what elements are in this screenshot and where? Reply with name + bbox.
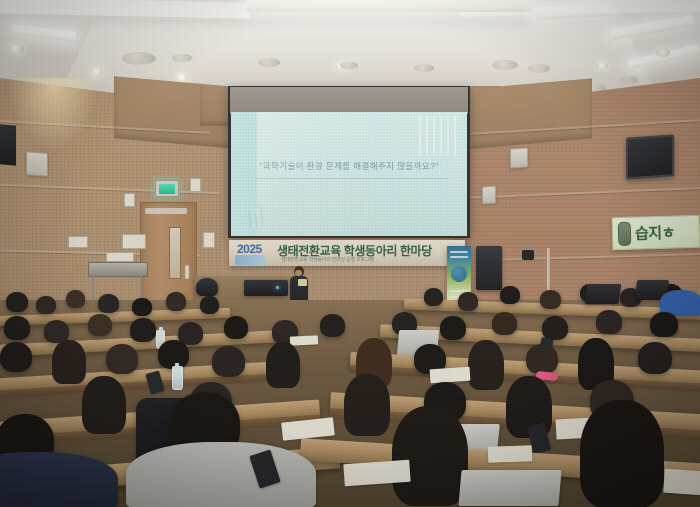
wall-speaker-icon [510, 147, 528, 168]
audience-head [526, 344, 558, 374]
paper [488, 445, 533, 463]
slide-underline [257, 178, 449, 179]
audience-head [158, 340, 189, 369]
ceiling-spotlight [90, 68, 103, 76]
ceiling-vent [258, 58, 280, 67]
av-equipment [196, 278, 218, 296]
audience-head [458, 292, 478, 311]
audience-head [638, 342, 672, 374]
wall-banner: 습지ㅎ [612, 215, 700, 250]
wall-speaker-icon [26, 151, 48, 177]
stage-banner: 2025 생태전환교육 학생동아리 한마당 생태전환교육 학생동아리 한마당 운… [229, 240, 465, 266]
camera-icon [522, 250, 534, 260]
audience-head [212, 346, 245, 377]
ceiling-vent [340, 62, 358, 69]
audience-head [106, 344, 138, 374]
projection-screen: "과학기술이 환경 문제를 해결해주지 않을까요?" [231, 112, 467, 236]
audience-head [468, 340, 504, 390]
audience-head [36, 296, 56, 314]
strip-light-center [246, 0, 536, 12]
exit-sign-glow [159, 184, 175, 194]
audience-head [66, 290, 85, 308]
wall-notice [122, 234, 146, 249]
presenter-face [295, 270, 302, 276]
right-soffit [462, 78, 592, 149]
paper [290, 335, 318, 345]
lecture-hall-photo: "과학기술이 환경 문제를 해결해주지 않을까요?" 습지ㅎ 2025 생태전환… [0, 0, 700, 507]
audience-head [344, 374, 390, 436]
door-handle[interactable] [185, 265, 189, 279]
water-bottle [172, 366, 183, 390]
slide-headline: "과학기술이 환경 문제를 해결해주지 않을까요?" [231, 160, 467, 172]
audience-head [540, 290, 561, 309]
door-closer [145, 208, 187, 214]
audience-head [6, 292, 28, 312]
wall-switch-panel[interactable] [106, 252, 134, 262]
laptop [458, 470, 561, 506]
presenter-notes [298, 279, 307, 286]
paper [663, 469, 700, 496]
banner-logo [235, 255, 265, 265]
audience-head [82, 376, 126, 434]
audience-head [132, 298, 152, 316]
audience-head [500, 286, 520, 304]
wall-banner-text: 습지ㅎ [635, 221, 675, 243]
wall-sensor [124, 193, 135, 207]
audience-head [596, 310, 622, 334]
audience-head [440, 316, 466, 340]
floor-speaker [476, 246, 502, 290]
banner-year: 2025 [237, 242, 262, 256]
wall-control-panel[interactable] [203, 232, 215, 248]
cart-shelf [88, 262, 148, 277]
audience-shoulders [126, 442, 316, 507]
audience-head [98, 294, 119, 313]
laptop [585, 284, 622, 304]
audience-head [542, 316, 568, 340]
audience-head [130, 318, 156, 342]
door-window [169, 227, 181, 279]
ceiling-vent [414, 64, 434, 72]
exit-sign-icon [155, 180, 179, 197]
audience-head [166, 292, 186, 311]
ceiling-vent [492, 60, 518, 70]
monitor-icon [626, 134, 674, 179]
audience-head [52, 340, 86, 384]
audience-head [88, 314, 112, 336]
audience-head [266, 342, 300, 388]
audience-head [650, 312, 678, 337]
ceiling-spotlight [176, 74, 188, 82]
ceiling-spotlight [656, 48, 670, 57]
monitor-icon [0, 124, 16, 165]
slide-grass-illustration [241, 187, 273, 234]
audience-head [580, 400, 664, 507]
audience-head [4, 316, 30, 340]
ceiling-vent [172, 54, 192, 62]
status-led [276, 286, 279, 289]
banner-icon [618, 222, 632, 246]
ceiling-vent [620, 76, 638, 84]
audience-head [200, 296, 219, 314]
projection-screen-valance [230, 87, 468, 114]
audience-head [320, 314, 345, 337]
ceiling-spotlight [596, 62, 608, 70]
ceiling-vent [528, 64, 550, 73]
audience-head [392, 406, 468, 506]
projector [244, 280, 288, 296]
wall-sensor [190, 178, 201, 192]
banner-subtitle: 생태전환교육 학생동아리 한마당 운영 프로그램 [281, 256, 374, 263]
ceiling-vent [122, 52, 156, 65]
paper [430, 367, 471, 384]
wall-plate [68, 236, 88, 248]
audience-head [224, 316, 248, 339]
slide-bars-decoration [419, 116, 459, 156]
audience-head [0, 342, 32, 372]
ceiling-spotlight [8, 44, 24, 54]
audience-head [492, 312, 517, 335]
banner-line [450, 251, 468, 253]
audience-head [424, 288, 443, 306]
paper [343, 460, 410, 487]
banner-line [450, 256, 468, 258]
banner-emblem [451, 266, 467, 282]
wall-speaker-icon [482, 186, 496, 205]
